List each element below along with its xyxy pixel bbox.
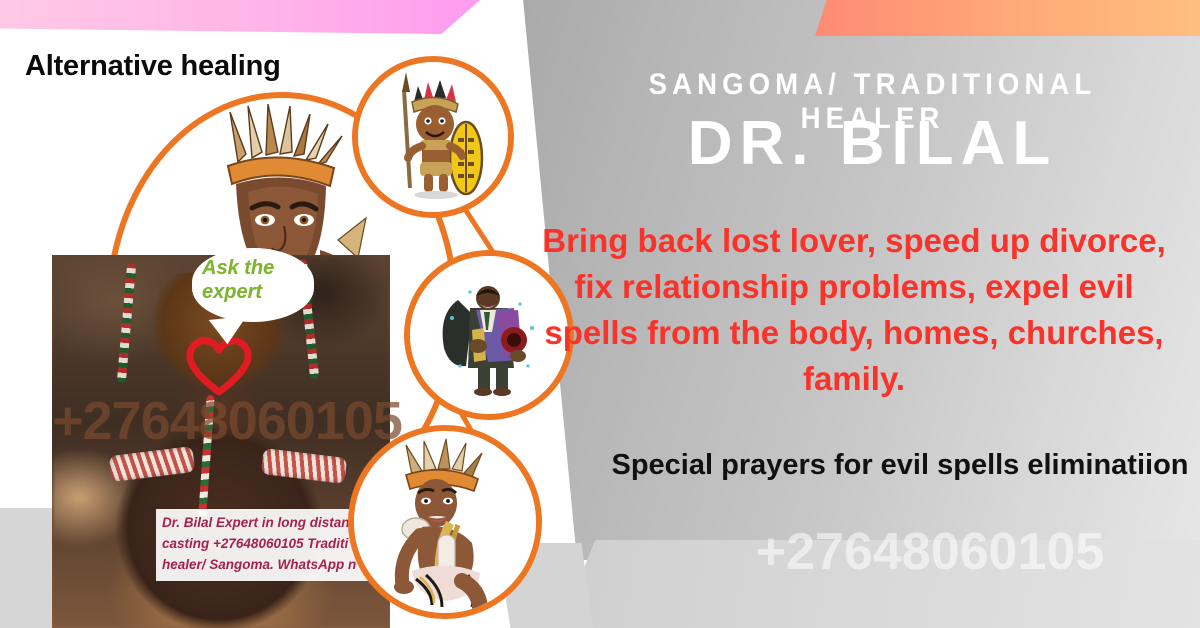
special-prayers-text: Special prayers for evil spells eliminat… bbox=[610, 443, 1190, 488]
photo-caption-box: Dr. Bilal Expert in long distan casting … bbox=[156, 509, 368, 581]
caption-line-3: healer/ Sangoma. WhatsApp n bbox=[162, 554, 362, 575]
speech-bubble: Ask the expert bbox=[192, 248, 314, 322]
orange-gradient-banner bbox=[815, 0, 1200, 36]
services-red-text: Bring back lost lover, speed up divorce,… bbox=[534, 218, 1174, 402]
page-title: Alternative healing bbox=[25, 50, 281, 83]
circle-zulu-warrior-cartoon bbox=[352, 56, 514, 218]
poster-canvas: Alternative healing bbox=[0, 0, 1200, 628]
speech-bubble-tail bbox=[209, 316, 250, 346]
doctor-name-title: DR. BILAL bbox=[565, 108, 1180, 179]
pink-gradient-banner bbox=[0, 0, 480, 34]
grey-left-block bbox=[0, 508, 54, 628]
circle-kneeling-dancer-figure bbox=[348, 425, 542, 619]
photo-watermark-phone: +27648060105 bbox=[52, 390, 412, 452]
speech-bubble-text: Ask the expert bbox=[202, 256, 306, 304]
caption-line-1: Dr. Bilal Expert in long distan bbox=[162, 512, 362, 533]
caption-line-2: casting +27648060105 Traditi bbox=[162, 533, 362, 554]
phone-watermark: +27648060105 bbox=[660, 522, 1200, 582]
